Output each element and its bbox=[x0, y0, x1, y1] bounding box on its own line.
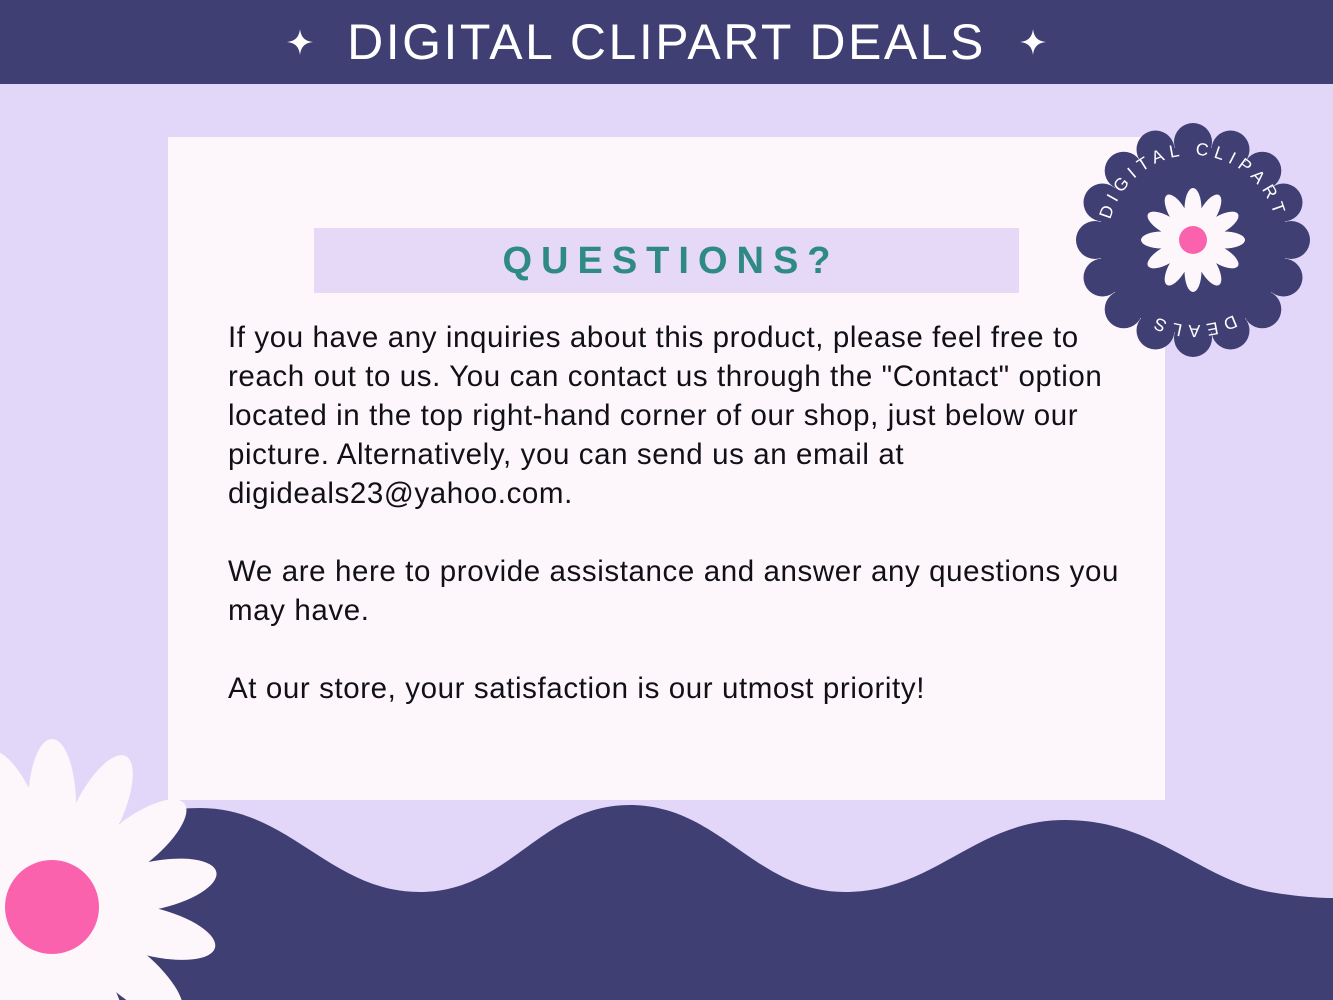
sparkle-icon-right bbox=[1020, 29, 1046, 55]
paragraph-2: We are here to provide assistance and an… bbox=[228, 552, 1138, 630]
paragraph-3: At our store, your satisfaction is our u… bbox=[228, 669, 1138, 708]
corner-daisy-decoration bbox=[0, 737, 222, 1000]
section-title-band: QUESTIONS? bbox=[314, 228, 1019, 293]
body-copy: If you have any inquiries about this pro… bbox=[228, 318, 1138, 708]
slide-canvas: DIGITAL CLIPART DEALS QUESTIONS? If you … bbox=[0, 0, 1333, 1000]
paragraph-1: If you have any inquiries about this pro… bbox=[228, 318, 1138, 513]
header-title: DIGITAL CLIPART DEALS bbox=[347, 17, 986, 67]
sparkle-icon-left bbox=[287, 29, 313, 55]
header-bar: DIGITAL CLIPART DEALS bbox=[0, 0, 1333, 84]
brand-badge: DIGITAL CLIPART DEALS bbox=[1073, 120, 1313, 360]
section-title: QUESTIONS? bbox=[493, 242, 839, 280]
daisy-flower-icon bbox=[0, 739, 221, 1000]
